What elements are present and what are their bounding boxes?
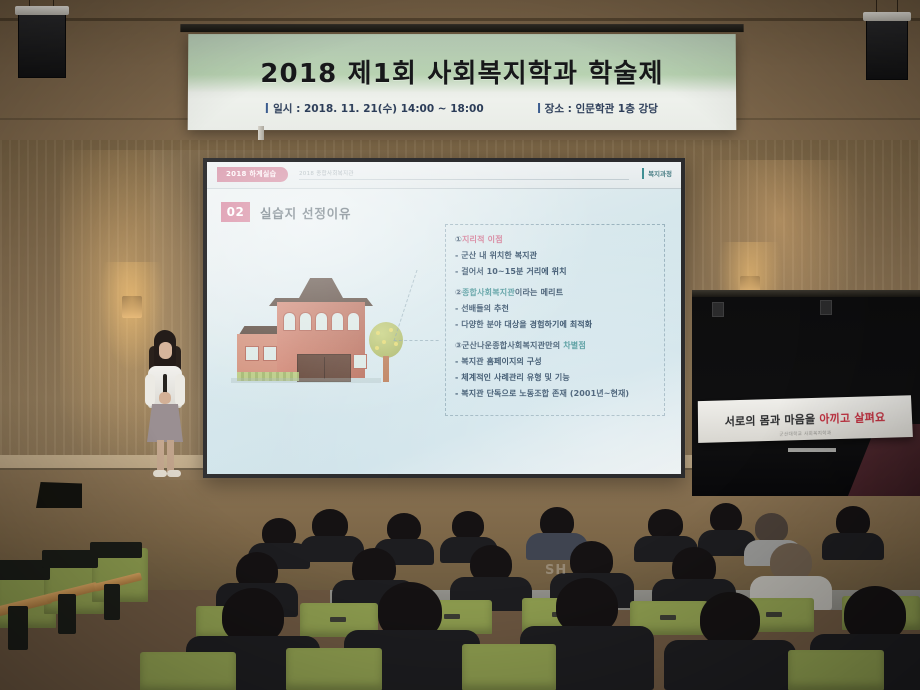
slide-group-3: ③군산나운종합사회복지관만의 차별점 - 복지관 홈페이지의 구성 - 체계적인… [455, 340, 629, 399]
slide-group-2-item-2: - 다양한 분야 대상을 경험하기에 최적화 [455, 319, 592, 330]
slide-group-1-item-2: - 걸어서 10~15분 거리에 위치 [455, 266, 567, 277]
campaign-banner: 서로의 몸과 마음을 아끼고 살펴요 군산대학교 사회복지학과 [698, 395, 913, 443]
slide-group-3-head: ③군산나운종합사회복지관만의 차별점 [455, 340, 629, 351]
ceiling-speaker-right-icon [866, 18, 908, 80]
presenter-face [159, 342, 172, 359]
auditorium-photo: 2018 제1회 사회복지학과 학술제 일시 : 2018. 11. 21(수)… [0, 0, 920, 690]
slide-group-1-head: ①지리적 이점 [455, 234, 567, 245]
slide-group-3-item-1: - 복지관 홈페이지의 구성 [455, 356, 629, 367]
slide-tab-label: 2018 하계실습 [217, 167, 288, 182]
slide-group-2: ②종합사회복지관이라는 메리트 - 선배들의 추천 - 다양한 분야 대상을 경… [455, 287, 592, 330]
banner-title: 2018 제1회 사회복지학과 학술제 [188, 34, 736, 90]
presentation-slide: 2018 하계실습 2018 종합사회복지관 복지과정 02 실습지 선정이유 [207, 162, 681, 474]
banner-date: 일시 : 2018. 11. 21(수) 14:00 ~ 18:00 [266, 101, 484, 116]
slide-tab-note: 2018 종합사회복지관 [299, 169, 354, 177]
slide-group-3-item-2: - 체계적인 사례관리 유형 및 기능 [455, 372, 629, 383]
welfare-center-house-illustration [231, 272, 401, 392]
event-banner: 2018 제1회 사회복지학과 학술제 일시 : 2018. 11. 21(수)… [188, 34, 737, 130]
watermark: SH [545, 563, 567, 578]
wall-sconce-left-icon [122, 296, 142, 318]
slide-group-1-item-1: - 군산 내 위치한 복지관 [455, 250, 567, 261]
presenter-skirt [147, 404, 183, 442]
presenter [140, 330, 192, 480]
campaign-banner-text: 서로의 몸과 마음을 아끼고 살펴요 [725, 409, 886, 429]
slide-group-2-item-1: - 선배들의 추천 [455, 303, 592, 314]
projection-screen: 2018 하계실습 2018 종합사회복지관 복지과정 02 실습지 선정이유 [203, 158, 685, 478]
slide-group-3-item-3: - 복지관 단독으로 노동조합 존재 (2001년~현재) [455, 388, 629, 399]
ceiling-seam [0, 18, 920, 21]
stage-monitor-speaker-icon [36, 482, 82, 508]
slide-rule [299, 179, 629, 180]
slide-brand-label: 복지과정 [642, 168, 672, 178]
ceiling-speaker-left-icon [18, 12, 66, 78]
slide-group-2-head: ②종합사회복지관이라는 메리트 [455, 287, 592, 298]
slide-group-1: ①지리적 이점 - 군산 내 위치한 복지관 - 걸어서 10~15분 거리에 … [455, 234, 567, 277]
slide-section-number: 02 [221, 202, 250, 222]
banner-place: 장소 : 인문학관 1층 강당 [538, 101, 658, 116]
banner-support-pole [258, 126, 264, 140]
slide-heading: 실습지 선정이유 [260, 203, 351, 222]
banner-rail [180, 24, 743, 32]
banner-subinfo: 일시 : 2018. 11. 21(수) 14:00 ~ 18:00 장소 : … [188, 101, 736, 116]
